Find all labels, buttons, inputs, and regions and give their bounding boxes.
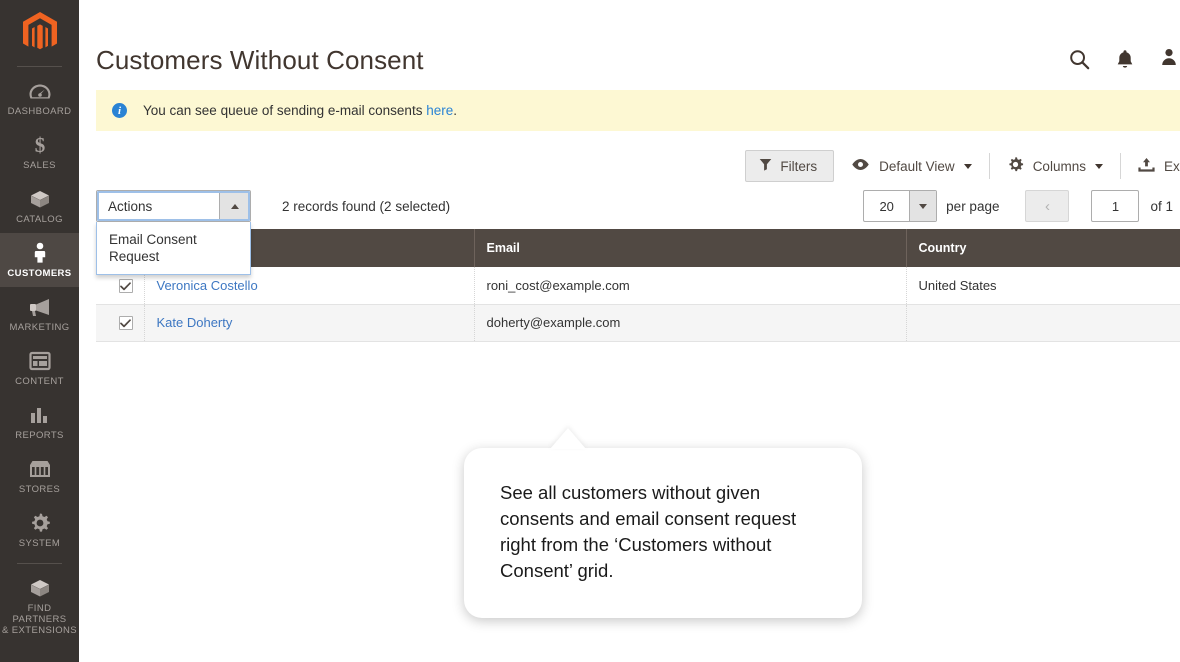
sidebar-item-reports[interactable]: REPORTS <box>0 395 79 449</box>
per-page-label: per page <box>946 199 999 214</box>
dashboard-icon <box>27 80 53 102</box>
sidebar-item-label: MARKETING <box>9 322 69 333</box>
sidebar-item-label: REPORTS <box>15 430 64 441</box>
sidebar-item-label: CATALOG <box>16 214 63 225</box>
grid-body: Veronica Costello roni_cost@example.com … <box>96 267 1180 341</box>
cell-name[interactable]: Kate Doherty <box>144 304 474 341</box>
sidebar-item-label-line1: FIND PARTNERS <box>2 603 77 625</box>
customer-link[interactable]: Kate Doherty <box>157 315 233 330</box>
sidebar-divider-top <box>17 66 62 67</box>
column-header-country[interactable]: Country <box>906 229 1180 267</box>
sidebar-item-label: SYSTEM <box>19 538 60 549</box>
gear-icon <box>27 512 53 534</box>
magento-logo[interactable] <box>0 0 79 60</box>
info-icon: i <box>112 103 127 118</box>
admin-page: DASHBOARD $ SALES CATALOG CUSTOMERS MARK… <box>0 0 1180 662</box>
gear-icon <box>1007 156 1024 176</box>
sidebar-item-label: CUSTOMERS <box>7 268 71 279</box>
default-view-label: Default View <box>879 159 955 174</box>
callout-bubble: See all customers without given consents… <box>464 448 862 618</box>
per-page-select[interactable]: 20 <box>863 190 937 222</box>
bar-chart-icon <box>27 404 53 426</box>
page-header: Customers Without Consent admin <box>79 0 1180 74</box>
page-title: Customers Without Consent <box>96 45 424 76</box>
actions-menu: Email Consent Request <box>96 222 251 275</box>
actions-menu-item-email-consent-request[interactable]: Email Consent Request <box>97 230 250 267</box>
filters-label: Filters <box>780 159 817 174</box>
sidebar-item-stores[interactable]: STORES <box>0 449 79 503</box>
filters-button[interactable]: Filters <box>745 150 834 182</box>
callout-tail <box>550 428 586 449</box>
user-icon <box>1160 48 1178 71</box>
sidebar-item-marketing[interactable]: MARKETING <box>0 287 79 341</box>
sidebar-item-dashboard[interactable]: DASHBOARD <box>0 71 79 125</box>
account-menu[interactable]: admin <box>1160 48 1180 71</box>
sidebar-item-catalog[interactable]: CATALOG <box>0 179 79 233</box>
chevron-down-icon <box>1095 164 1103 169</box>
sidebar-item-content[interactable]: CONTENT <box>0 341 79 395</box>
export-label: Export <box>1164 159 1180 174</box>
box-icon <box>27 188 53 210</box>
page-total-label: of 1 <box>1150 199 1173 214</box>
bell-icon[interactable] <box>1116 49 1134 70</box>
package-icon <box>27 577 53 599</box>
sidebar-item-label-line2: & EXTENSIONS <box>2 625 77 636</box>
records-found-text: 2 records found (2 selected) <box>282 199 450 214</box>
pager: 20 per page ‹ 1 of 1 › <box>863 190 1180 222</box>
main-content: Customers Without Consent admin i <box>79 0 1180 662</box>
grid-header-row: Name Email Country <box>96 229 1180 267</box>
export-button[interactable]: Export <box>1121 153 1180 179</box>
checkbox-checked-icon[interactable] <box>119 316 133 330</box>
chevron-down-icon <box>964 164 972 169</box>
grid-header: Name Email Country <box>96 229 1180 267</box>
caret-down <box>919 204 927 209</box>
sidebar-item-find-partners-extensions[interactable]: FIND PARTNERS & EXTENSIONS <box>0 568 79 644</box>
export-upload-icon <box>1138 157 1155 175</box>
person-icon <box>27 242 53 264</box>
table-row[interactable]: Veronica Costello roni_cost@example.com … <box>96 267 1180 304</box>
sidebar-divider-bottom <box>17 563 62 564</box>
customer-link[interactable]: Veronica Costello <box>157 278 258 293</box>
row-checkbox-cell[interactable] <box>96 304 144 341</box>
cell-country <box>906 304 1180 341</box>
caret-up <box>231 204 239 209</box>
actions-label: Actions <box>97 191 219 221</box>
megaphone-icon <box>27 296 53 318</box>
storefront-icon <box>27 458 53 480</box>
table-row[interactable]: Kate Doherty doherty@example.com <box>96 304 1180 341</box>
chevron-down-icon[interactable] <box>909 191 936 221</box>
previous-page-button[interactable]: ‹ <box>1025 190 1069 222</box>
sidebar-item-label: CONTENT <box>15 376 64 387</box>
dollar-icon: $ <box>27 134 53 156</box>
cell-country: United States <box>906 267 1180 304</box>
sidebar-item-system[interactable]: SYSTEM <box>0 503 79 557</box>
search-icon[interactable] <box>1069 49 1090 70</box>
default-view-button[interactable]: Default View <box>834 153 989 179</box>
magento-logo-icon <box>22 12 58 54</box>
filter-funnel-icon <box>759 158 772 174</box>
sidebar-item-label: SALES <box>23 160 56 171</box>
svg-text:$: $ <box>34 134 45 156</box>
checkbox-checked-icon[interactable] <box>119 279 133 293</box>
page-number-input[interactable]: 1 <box>1091 190 1139 222</box>
grid-subrow: Actions Email Consent Request 2 records … <box>79 183 1180 229</box>
header-actions: admin <box>1069 48 1180 73</box>
callout-text: See all customers without given consents… <box>500 480 826 584</box>
actions-dropdown: Actions Email Consent Request <box>96 190 251 222</box>
notice-text-before: You can see queue of sending e-mail cons… <box>143 103 426 118</box>
cell-email: roni_cost@example.com <box>474 267 906 304</box>
customers-grid: Name Email Country Veronica Costello ro <box>96 229 1180 342</box>
chevron-up-icon[interactable] <box>219 191 250 221</box>
sidebar: DASHBOARD $ SALES CATALOG CUSTOMERS MARK… <box>0 0 79 662</box>
column-header-email[interactable]: Email <box>474 229 906 267</box>
eye-icon <box>851 158 870 174</box>
sidebar-item-sales[interactable]: $ SALES <box>0 125 79 179</box>
sidebar-item-label: STORES <box>19 484 60 495</box>
cell-email: doherty@example.com <box>474 304 906 341</box>
columns-label: Columns <box>1033 159 1086 174</box>
actions-select-button[interactable]: Actions <box>96 190 251 222</box>
columns-button[interactable]: Columns <box>990 153 1120 179</box>
notice-link[interactable]: here <box>426 103 453 118</box>
per-page-value: 20 <box>864 191 909 221</box>
notice-text: You can see queue of sending e-mail cons… <box>143 103 457 118</box>
layout-icon <box>27 350 53 372</box>
grid-toolbar: Filters Default View Columns <box>79 131 1180 183</box>
info-notice: i You can see queue of sending e-mail co… <box>96 90 1180 131</box>
sidebar-item-label: DASHBOARD <box>8 106 72 117</box>
notice-text-after: . <box>453 103 457 118</box>
sidebar-item-customers[interactable]: CUSTOMERS <box>0 233 79 287</box>
